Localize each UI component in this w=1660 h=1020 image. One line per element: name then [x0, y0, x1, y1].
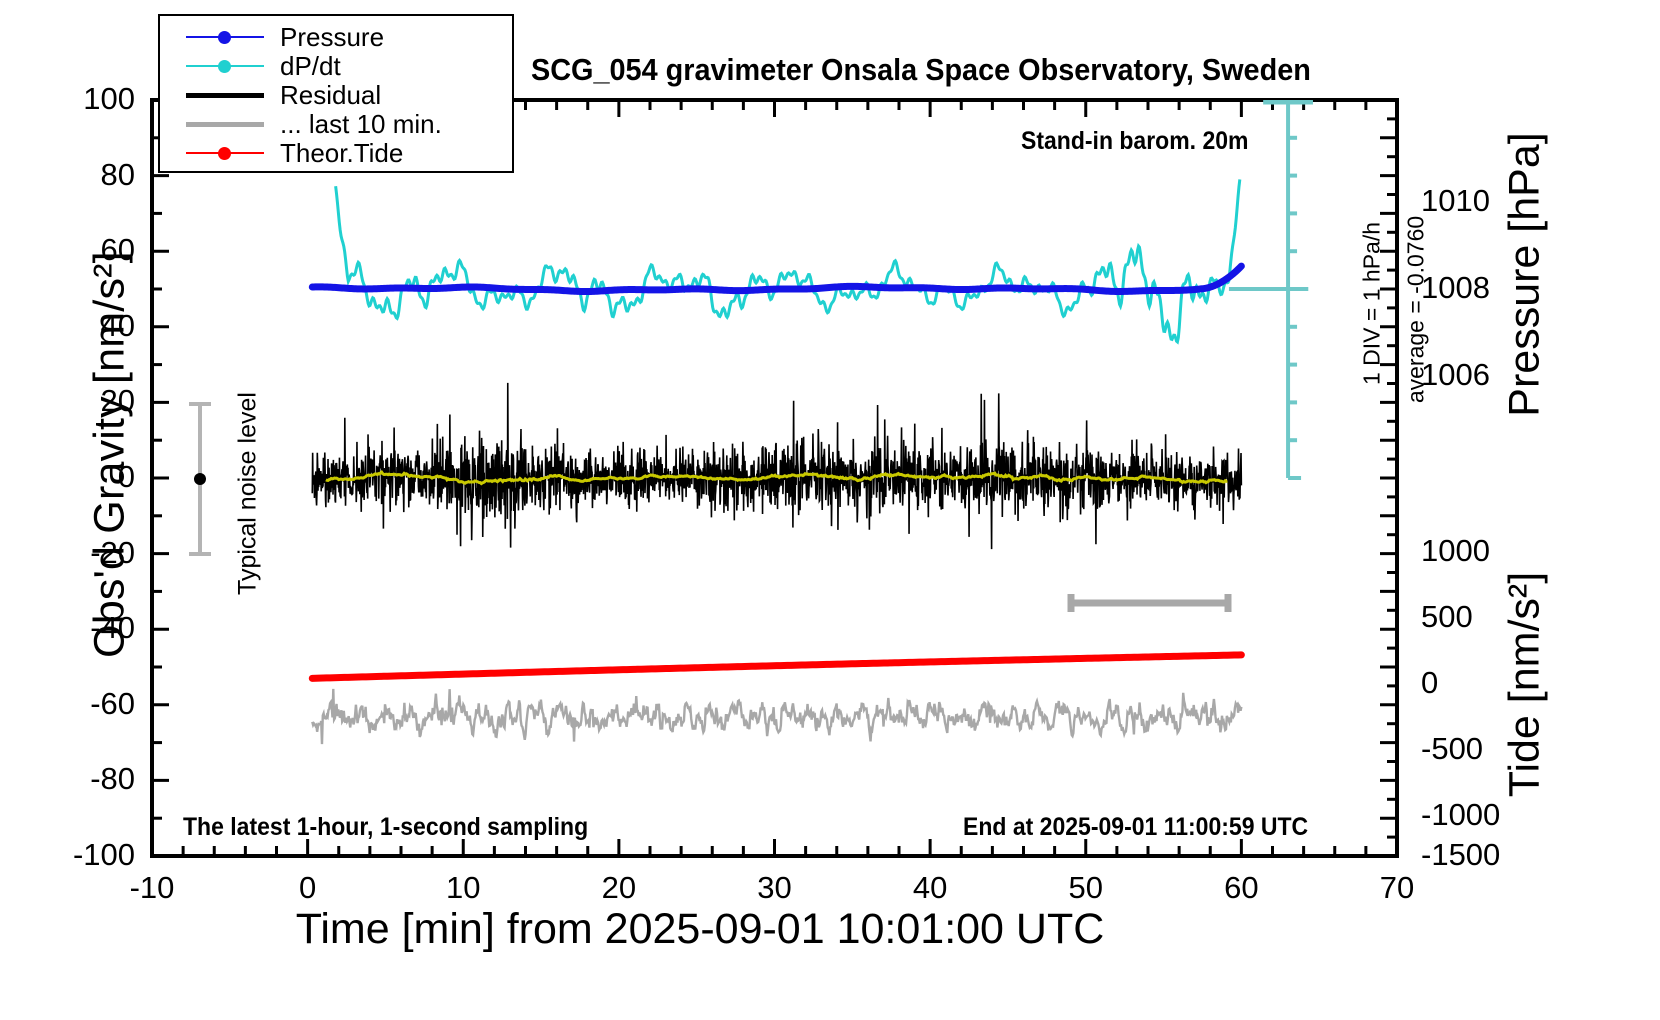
legend-marker-dot: [218, 147, 231, 160]
x-tick-label-60: 60: [1191, 870, 1291, 906]
x-tick-label-50: 50: [1036, 870, 1136, 906]
pressure-tick-label-1008: 1008: [1421, 270, 1541, 306]
legend-line: [186, 93, 264, 98]
tide-tick-label-neg500: -500: [1421, 731, 1571, 767]
series-dpdt: [336, 179, 1240, 341]
x-axis-title: Time [min] from 2025-09-01 10:01:00 UTC: [0, 905, 1400, 954]
y-tick-label-20: 20: [40, 383, 135, 419]
dpdt-scale-bar: [1229, 100, 1313, 478]
chart-title: SCG_054 gravimeter Onsala Space Observat…: [531, 52, 1311, 88]
legend: PressuredP/dtResidual... last 10 min.The…: [158, 14, 514, 173]
pressure-tick-label-1006: 1006: [1421, 357, 1541, 393]
legend-line: [186, 122, 264, 127]
y-tick-label--40: -40: [40, 610, 135, 646]
legend-item-theor-tide[interactable]: Theor.Tide: [186, 139, 512, 167]
noise-center-dot: [194, 473, 206, 485]
legend-item-pressure[interactable]: Pressure: [186, 23, 512, 51]
y-tick-label--80: -80: [40, 761, 135, 797]
tide-tick-label-1000: 1000: [1421, 533, 1571, 569]
legend-swatch: [186, 28, 264, 46]
tide-tick-label-neg1000: -1000: [1421, 797, 1571, 833]
x-tick-label-20: 20: [569, 870, 669, 906]
tide-tick-label-neg1500: -1500: [1421, 837, 1571, 873]
legend-label: Pressure: [280, 22, 384, 53]
y-tick-label--20: -20: [40, 535, 135, 571]
y-tick-label-40: 40: [40, 308, 135, 344]
pressure-tick-label-1010: 1010: [1421, 183, 1541, 219]
legend-marker-dot: [218, 31, 231, 44]
legend-swatch: [186, 144, 264, 162]
legend-label: dP/dt: [280, 51, 341, 82]
annotation-footer-right: End at 2025-09-01 11:00:59 UTC: [963, 813, 1308, 842]
tide-tick-label-0: 0: [1421, 665, 1571, 701]
legend-label: Residual: [280, 80, 381, 111]
y-tick-label--100: -100: [40, 837, 135, 873]
y-tick-label-100: 100: [40, 81, 135, 117]
annotation-div-scale: 1 DIV = 1 hPa/h: [1359, 204, 1386, 404]
last10-span-bar: [1071, 594, 1228, 612]
y-tick-label-0: 0: [40, 459, 135, 495]
legend-label: Theor.Tide: [280, 138, 403, 169]
tide-tick-label-500: 500: [1421, 599, 1571, 635]
legend-item-residual[interactable]: Residual: [186, 81, 512, 109]
legend-item-dp-dt[interactable]: dP/dt: [186, 52, 512, 80]
legend-swatch: [186, 115, 264, 133]
annotation-typical-noise-level: Typical noise level: [234, 379, 263, 609]
legend-swatch: [186, 86, 264, 104]
legend-swatch: [186, 57, 264, 75]
x-tick-label-40: 40: [880, 870, 980, 906]
series-residual: [312, 383, 1241, 549]
x-tick-label-70: 70: [1347, 870, 1447, 906]
x-tick-label-0: 0: [258, 870, 358, 906]
legend-item-last-10-min[interactable]: ... last 10 min.: [186, 110, 512, 138]
x-tick-label-30: 30: [725, 870, 825, 906]
series-theor-tide: [312, 655, 1241, 678]
annotation-footer-left: The latest 1-hour, 1-second sampling: [183, 813, 588, 842]
x-tick-label--10: -10: [102, 870, 202, 906]
y-tick-label-60: 60: [40, 232, 135, 268]
legend-marker-dot: [218, 60, 231, 73]
series-last-10-min: [312, 689, 1241, 744]
x-tick-label-10: 10: [413, 870, 513, 906]
y-axis-left-ticks: [152, 100, 169, 856]
legend-label: ... last 10 min.: [280, 109, 442, 140]
y-tick-label--60: -60: [40, 686, 135, 722]
y-tick-label-80: 80: [40, 157, 135, 193]
annotation-stand-in-barometer: Stand-in barom. 20m: [1021, 127, 1248, 156]
